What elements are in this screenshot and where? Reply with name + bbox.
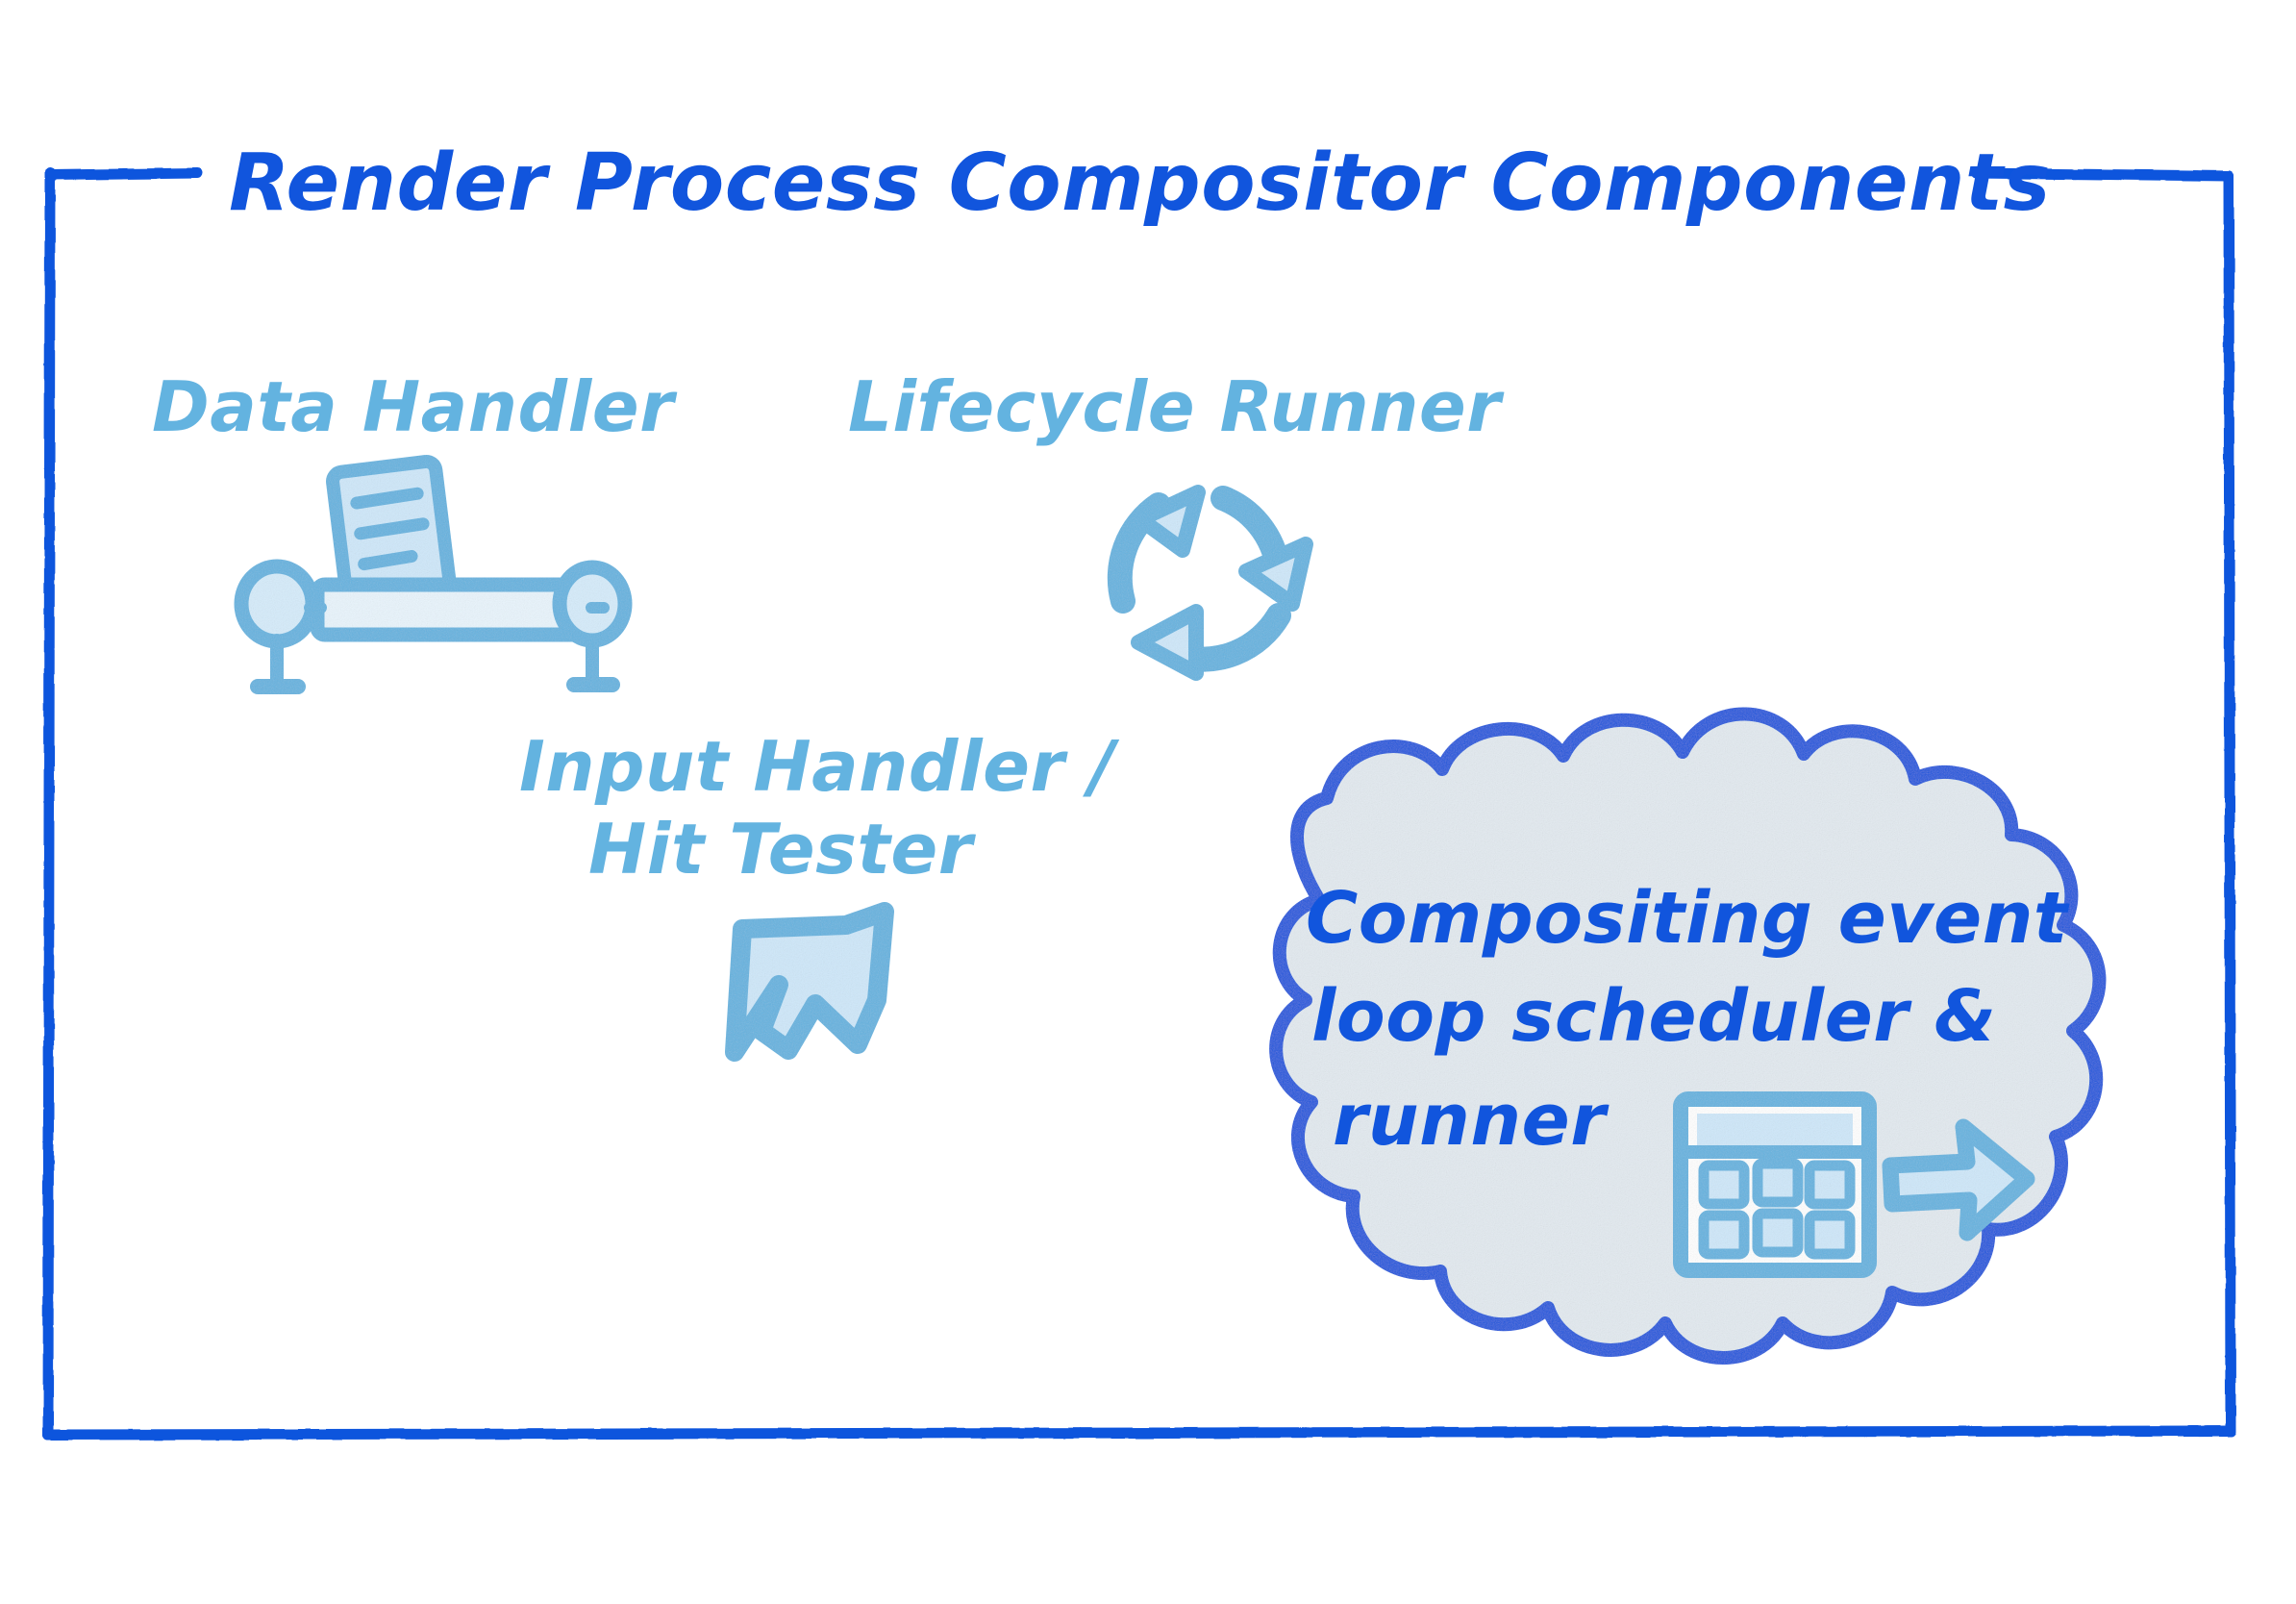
cloud-text-line-2: loop scheduler & <box>1311 975 1997 1058</box>
label-input-handler-line1: Input Handler / <box>519 726 1120 807</box>
label-input-handler-line2: Hit Tester <box>588 809 977 890</box>
cloud-text-line-1: Compositing event <box>1306 877 2070 960</box>
label-lifecycle-runner: Lifecycle Runner <box>848 366 1505 447</box>
label-data-handler: Data Handler <box>152 366 678 447</box>
diagram-canvas: Render Process Compositor Components Dat… <box>0 0 2296 1604</box>
diagram-text-layer: Render Process Compositor Components Dat… <box>0 0 2296 1604</box>
page-title: Render Process Compositor Components <box>229 138 2051 229</box>
cloud-text-line-3: runner <box>1333 1079 1610 1162</box>
